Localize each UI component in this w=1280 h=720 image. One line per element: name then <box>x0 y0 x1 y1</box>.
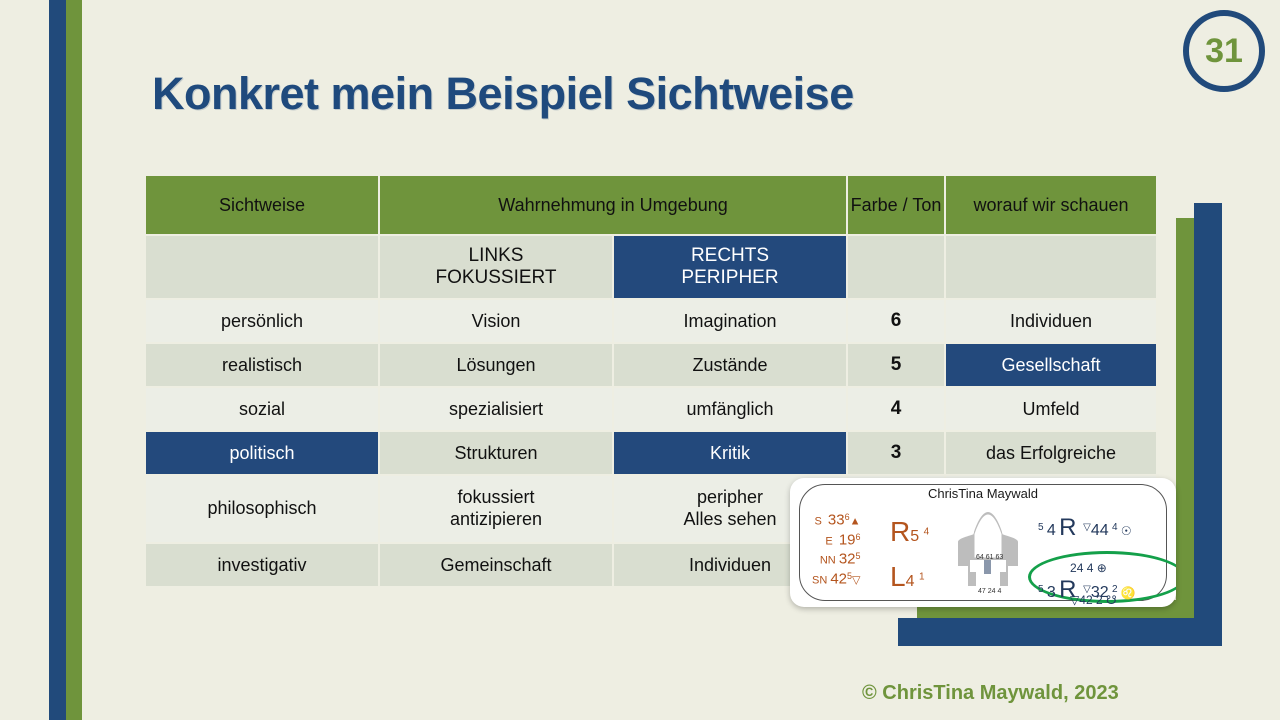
cell-ton: 5 <box>848 344 944 386</box>
corner-frame-blue-vertical <box>1194 203 1222 646</box>
card-right-row-1: 5 4 R ▽44 4 ☉ <box>1038 514 1132 545</box>
table-row: persönlich Vision Imagination 6 Individu… <box>146 300 1156 342</box>
cell-rechts: Imagination <box>614 300 846 342</box>
cell-ton: 6 <box>848 300 944 342</box>
human-design-chart-card[interactable]: ChrisTina Maywald S 336▲ E 196 NN 325 SN… <box>790 478 1176 607</box>
table-subheader-row: LINKS FOKUSSIERT RECHTS PERIPHER <box>146 236 1156 298</box>
table-row: politisch Strukturen Kritik 3 das Erfolg… <box>146 432 1156 474</box>
page-title: Konkret mein Beispiel Sichtweise <box>152 68 854 120</box>
left-accent-stripe-green <box>66 0 82 720</box>
cell-rechts: Kritik <box>614 432 846 474</box>
card-right-row-2b: 5 3 R ▽42 2 ☋ <box>1038 590 1117 607</box>
cell-sichtweise: investigativ <box>146 544 378 586</box>
col-header-farbe-ton: Farbe / Ton <box>848 176 944 234</box>
table-header: Sichtweise Wahrnehmung in Umgebung Farbe… <box>146 176 1156 234</box>
cell-schauen: Individuen <box>946 300 1156 342</box>
subheader-cell-empty-schauen <box>946 236 1156 298</box>
cell-sichtweise: persönlich <box>146 300 378 342</box>
cell-links: spezialisiert <box>380 388 612 430</box>
cell-links: Gemeinschaft <box>380 544 612 586</box>
cell-sichtweise: politisch <box>146 432 378 474</box>
copyright-footer: © ChrisTina Maywald, 2023 <box>862 682 1119 705</box>
cell-sichtweise: realistisch <box>146 344 378 386</box>
corner-frame-green-vertical <box>1176 218 1194 618</box>
card-rl-values: R5 4 L4 1 <box>890 512 929 602</box>
bodygraph-numbers-top: 64 61 63 <box>976 554 1003 561</box>
left-accent-stripe-blue <box>49 0 66 720</box>
subheader-cell-links: LINKS FOKUSSIERT <box>380 236 612 298</box>
cell-links: Vision <box>380 300 612 342</box>
bodygraph-figure-icon <box>940 506 1036 600</box>
subheader-cell-empty-ton <box>848 236 944 298</box>
col-header-wahrnehmung: Wahrnehmung in Umgebung <box>380 176 846 234</box>
cell-rechts: Zustände <box>614 344 846 386</box>
cell-schauen: Gesellschaft <box>946 344 1156 386</box>
cell-schauen: Umfeld <box>946 388 1156 430</box>
cell-links: Strukturen <box>380 432 612 474</box>
subheader-cell-empty-left <box>146 236 378 298</box>
cell-schauen: das Erfolgreiche <box>946 432 1156 474</box>
table-row: realistisch Lösungen Zustände 5 Gesellsc… <box>146 344 1156 386</box>
bodygraph-numbers-bottom: 47 24 4 <box>978 588 1001 595</box>
col-header-worauf-wir-schauen: worauf wir schauen <box>946 176 1156 234</box>
card-left-values: S 336▲ E 196 NN 325 SN 425▽ <box>812 510 861 589</box>
card-left-row-s: S 336▲ <box>812 510 861 530</box>
slide-number-badge: 31 <box>1183 10 1265 92</box>
card-left-row-sn: SN 425▽ <box>812 569 861 589</box>
cell-rechts: umfänglich <box>614 388 846 430</box>
subheader-rechts-line2: PERIPHER <box>614 267 846 289</box>
table-header-row: Sichtweise Wahrnehmung in Umgebung Farbe… <box>146 176 1156 234</box>
col-header-sichtweise: Sichtweise <box>146 176 378 234</box>
cell-links-line1: fokussiert <box>380 487 612 509</box>
corner-frame-blue-horizontal <box>898 618 1222 646</box>
cell-sichtweise: philosophisch <box>146 476 378 542</box>
subheader-links-line1: LINKS <box>380 245 612 267</box>
subheader-links-line2: FOKUSSIERT <box>380 267 612 289</box>
card-left-row-nn: NN 325 <box>812 549 861 569</box>
cell-links-line2: antizipieren <box>380 509 612 531</box>
slide-number: 31 <box>1205 34 1243 68</box>
card-rl-row-r: R5 4 <box>890 512 929 557</box>
cell-links: Lösungen <box>380 344 612 386</box>
cell-ton: 3 <box>848 432 944 474</box>
cell-ton: 4 <box>848 388 944 430</box>
card-person-name: ChrisTina Maywald <box>790 486 1176 501</box>
cell-sichtweise: sozial <box>146 388 378 430</box>
table-row: sozial spezialisiert umfänglich 4 Umfeld <box>146 388 1156 430</box>
cell-links: fokussiert antizipieren <box>380 476 612 542</box>
subheader-cell-rechts: RECHTS PERIPHER <box>614 236 846 298</box>
card-left-row-e: E 196 <box>812 530 861 550</box>
subheader-rechts-line1: RECHTS <box>614 245 846 267</box>
card-rl-row-l: L4 1 <box>890 557 929 602</box>
